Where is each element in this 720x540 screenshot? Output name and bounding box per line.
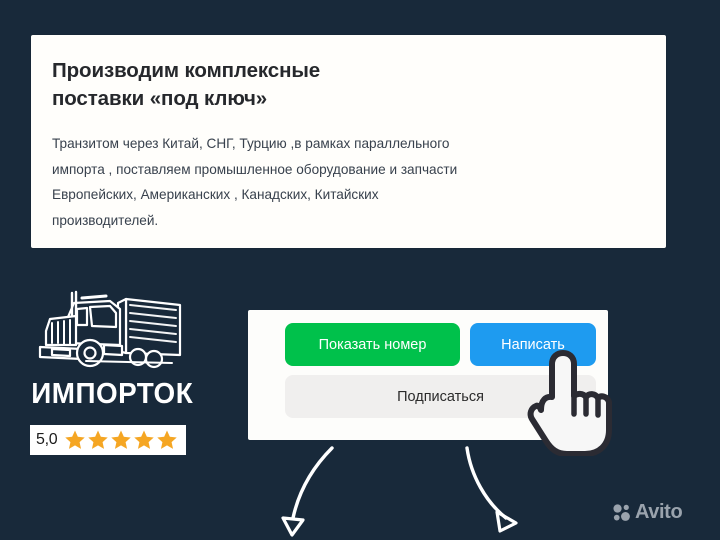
annotation-arrows — [0, 440, 720, 540]
arrowhead-left — [283, 518, 303, 535]
avito-dots-icon — [612, 503, 631, 522]
screenshot-canvas: Производим комплексные поставки «под клю… — [0, 0, 720, 540]
company-logo-block: ИМПОРТОК 5,0 — [28, 283, 193, 458]
info-card-title: Производим комплексные поставки «под клю… — [52, 57, 482, 113]
info-card: Производим комплексные поставки «под клю… — [31, 35, 666, 248]
arrow-to-phone-button — [293, 448, 332, 518]
arrowhead-right — [497, 512, 516, 531]
info-card-body: Транзитом через Китай, СНГ, Турцию ,в ра… — [52, 131, 572, 233]
truck-icon — [30, 283, 190, 375]
title-line-2: поставки «под ключ» — [52, 85, 482, 113]
body-line-1: Транзитом через Китай, СНГ, Турцию ,в ра… — [52, 131, 572, 157]
show-phone-button[interactable]: Показать номер — [285, 323, 460, 366]
body-line-3: Европейских, Американских , Канадских, К… — [52, 182, 572, 208]
body-line-2: импорта , поставляем промышленное оборуд… — [52, 157, 572, 183]
title-line-1: Производим комплексные — [52, 57, 482, 85]
avito-watermark: Avito — [612, 501, 682, 524]
arrow-to-write-button — [467, 448, 506, 518]
body-line-4: производителей. — [52, 208, 572, 234]
brand-name: ИМПОРТОК — [31, 378, 189, 411]
avito-label: Avito — [635, 501, 682, 524]
